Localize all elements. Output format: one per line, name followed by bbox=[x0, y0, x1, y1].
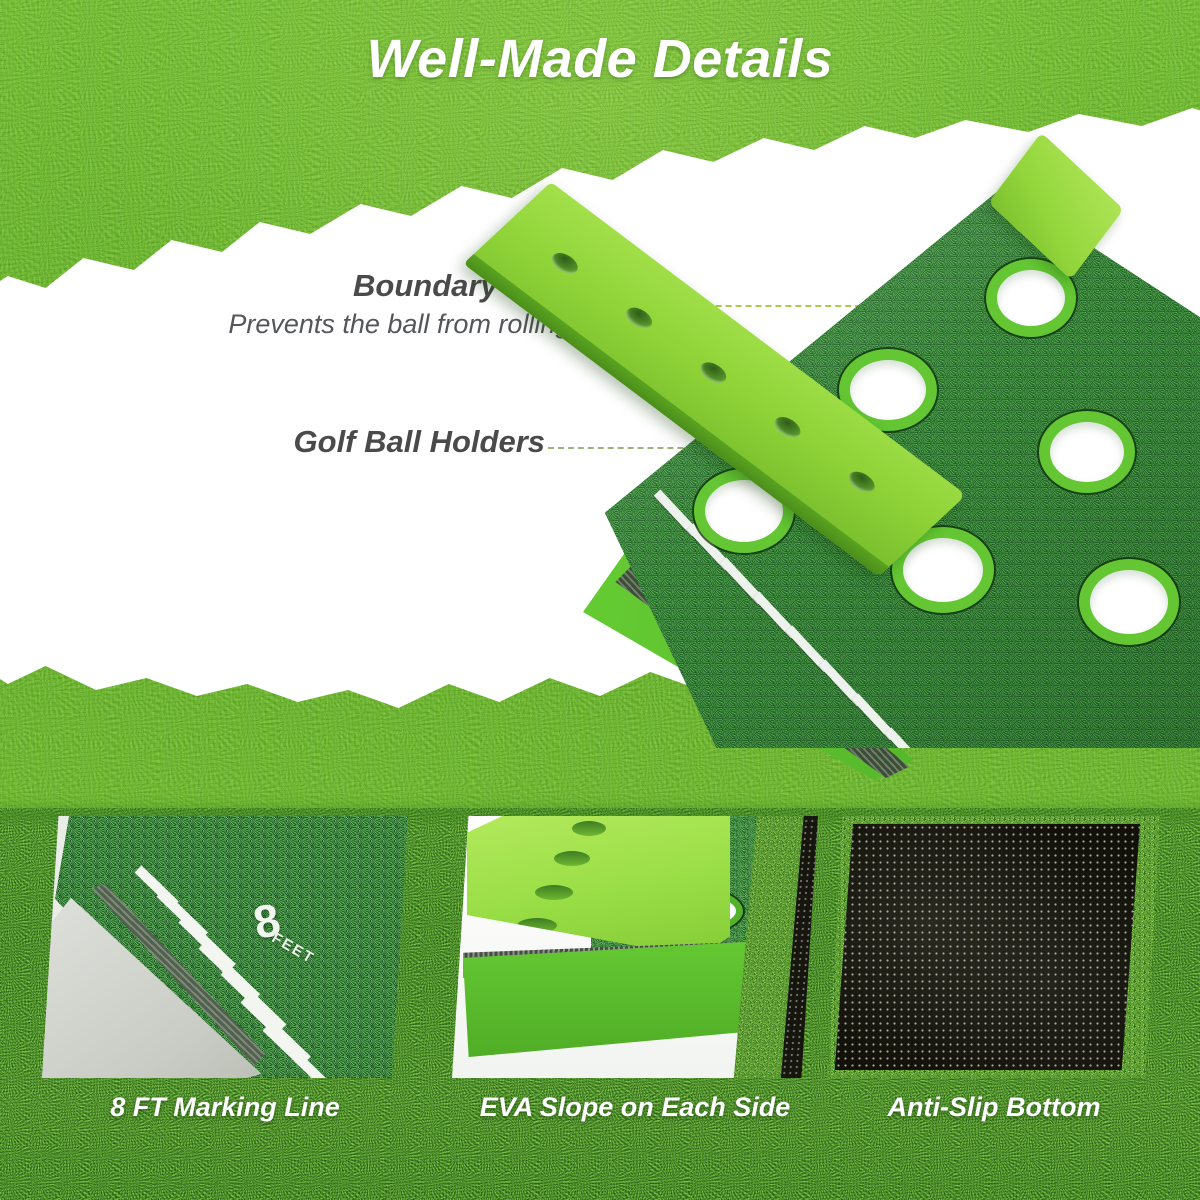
ball-holder-dimple bbox=[696, 358, 731, 387]
ball-holder-dimple bbox=[844, 468, 879, 497]
ball-hole bbox=[997, 270, 1065, 326]
page-title: Well-Made Details bbox=[0, 28, 1200, 90]
thumbnail-anti-slip bbox=[828, 816, 1160, 1078]
ball-holder-dimple bbox=[622, 304, 657, 333]
ball-hole bbox=[850, 360, 926, 420]
caption-anti-slip: Anti-Slip Bottom bbox=[828, 1092, 1160, 1123]
thumbnail-marking-line: 8 FEET bbox=[42, 816, 408, 1078]
callout-golf-ball-holders: Golf Ball Holders bbox=[0, 424, 545, 460]
ball-holder-dimple bbox=[547, 249, 582, 278]
thumbnail-caption-row: 8 FT Marking Line EVA Slope on Each Side… bbox=[0, 1092, 1200, 1138]
ball-hole bbox=[1050, 422, 1124, 482]
caption-eva-slope: EVA Slope on Each Side bbox=[452, 1092, 818, 1123]
ball-holder-dimple bbox=[770, 413, 805, 442]
anti-slip-bottom-surface bbox=[835, 824, 1140, 1070]
callout-subtitle: Prevents the ball from rolling off bbox=[0, 308, 608, 340]
caption-marking-line: 8 FT Marking Line bbox=[42, 1092, 408, 1123]
thumbnail-eva-slope bbox=[452, 816, 818, 1078]
ball-hole bbox=[1090, 570, 1168, 634]
ball-holder-slot bbox=[535, 885, 573, 900]
feature-thumbnail-row: 8 FEET bbox=[0, 816, 1200, 1086]
ball-hole bbox=[903, 538, 983, 602]
ball-holder-slot bbox=[554, 851, 590, 866]
ball-holder-slot bbox=[572, 821, 606, 836]
product-photo-main bbox=[545, 170, 1200, 750]
callout-title: Golf Ball Holders bbox=[0, 424, 545, 460]
